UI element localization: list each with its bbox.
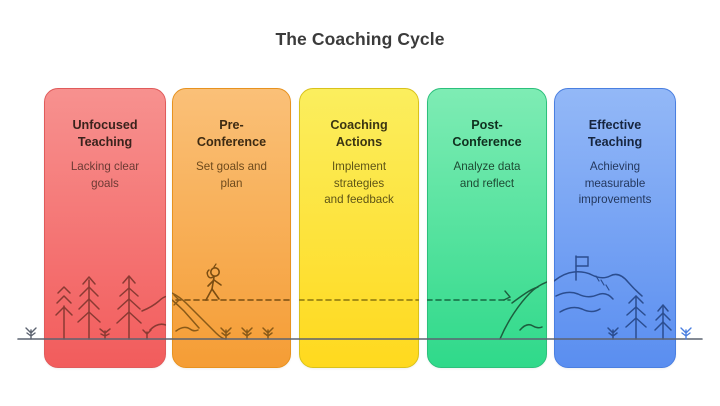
card-content: Post- Conference Analyze data and reflec… — [428, 89, 546, 192]
card-description: Set goals and plan — [183, 159, 280, 192]
stage-card-coaching-actions[interactable]: Coaching Actions Implement strategies an… — [299, 88, 419, 368]
stage-card-unfocused-teaching[interactable]: Unfocused Teaching Lacking clear goals — [44, 88, 166, 368]
card-title: Post- Conference — [438, 117, 536, 150]
infographic-canvas: The Coaching Cycle Unfocused Teaching La… — [0, 0, 720, 406]
card-content: Coaching Actions Implement strategies an… — [300, 89, 418, 209]
card-title: Unfocused Teaching — [55, 117, 155, 150]
card-title: Effective Teaching — [565, 117, 665, 150]
card-description: Implement strategies and feedback — [310, 159, 408, 208]
stage-cards: Unfocused Teaching Lacking clear goals P… — [0, 0, 720, 406]
card-title: Pre- Conference — [183, 117, 280, 150]
card-title: Coaching Actions — [310, 117, 408, 150]
stage-card-effective-teaching[interactable]: Effective Teaching Achieving measurable … — [554, 88, 676, 368]
card-content: Effective Teaching Achieving measurable … — [555, 89, 675, 209]
stage-card-post-conference[interactable]: Post- Conference Analyze data and reflec… — [427, 88, 547, 368]
card-description: Achieving measurable improvements — [565, 159, 665, 208]
stage-card-pre-conference[interactable]: Pre- Conference Set goals and plan — [172, 88, 291, 368]
card-content: Unfocused Teaching Lacking clear goals — [45, 89, 165, 192]
card-description: Analyze data and reflect — [438, 159, 536, 192]
card-content: Pre- Conference Set goals and plan — [173, 89, 290, 192]
card-description: Lacking clear goals — [55, 159, 155, 192]
